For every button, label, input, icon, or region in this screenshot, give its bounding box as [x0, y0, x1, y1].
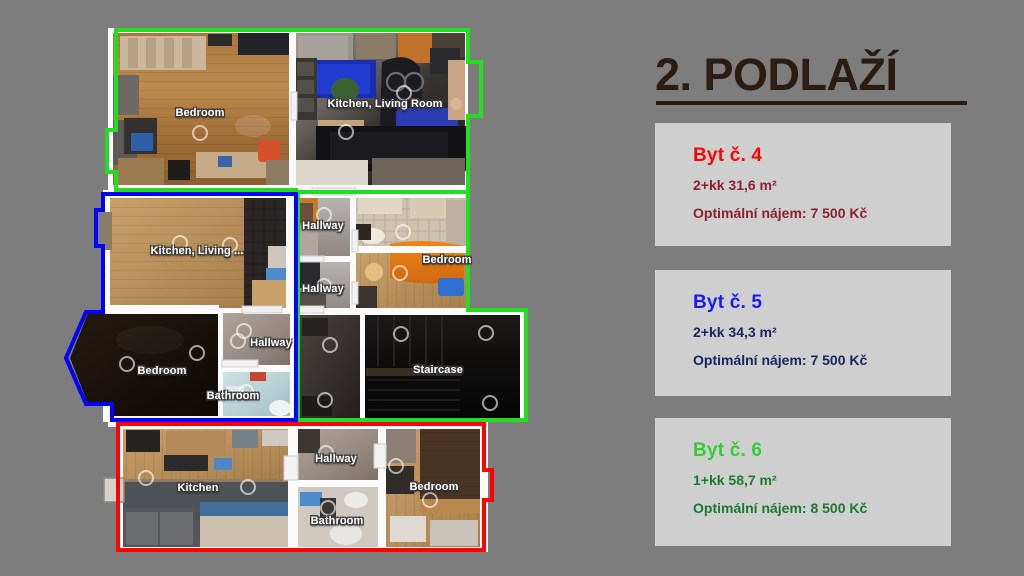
room-photo-kitchen-living-blue	[103, 198, 310, 308]
unit-card-title: Byt č. 5	[693, 292, 762, 314]
room-photo-bedroom-blue	[70, 313, 218, 416]
unit-card-byt-5[interactable]: Byt č. 5 2+kk 34,3 m² Optimální nájem: 7…	[655, 270, 951, 396]
unit-card-rent: Optimální nájem: 7 500 Kč	[693, 352, 867, 368]
room-photo-kitchen-living-top-right	[295, 33, 466, 185]
unit-card-rent: Optimální nájem: 8 500 Kč	[693, 500, 867, 516]
unit-card-rent: Optimální nájem: 7 500 Kč	[693, 205, 867, 221]
unit-card-layout: 2+kk 34,3 m²	[693, 324, 777, 340]
unit-card-layout: 1+kk 58,7 m²	[693, 472, 777, 488]
page-title: 2. PODLAŽÍ	[655, 52, 898, 97]
floorplan[interactable]: Bedroom Kitchen, Living Room Hallway Bed…	[0, 0, 560, 576]
floorplan-svg	[0, 0, 560, 576]
room-photo-hallway-bathroom-red	[298, 429, 378, 547]
room-photo-dark-hall-green	[300, 314, 360, 418]
unit-card-title: Byt č. 4	[693, 145, 762, 167]
room-photo-clutter-green	[355, 198, 467, 248]
slide-root: Bedroom Kitchen, Living Room Hallway Bed…	[0, 0, 1024, 576]
unit-card-byt-6[interactable]: Byt č. 6 1+kk 58,7 m² Optimální nájem: 8…	[655, 418, 951, 546]
room-photo-bedroom-red	[384, 429, 480, 547]
info-panel: 2. PODLAŽÍ Byt č. 4 2+kk 31,6 m² Optimál…	[560, 0, 1024, 576]
title-underline	[656, 101, 967, 105]
unit-card-byt-4[interactable]: Byt č. 4 2+kk 31,6 m² Optimální nájem: 7…	[655, 123, 951, 246]
room-photo-hallways-green	[296, 198, 350, 312]
unit-card-title: Byt č. 6	[693, 440, 762, 462]
room-photo-kitchen-red	[104, 429, 288, 547]
room-photo-bedroom-top-left	[113, 33, 289, 185]
unit-card-layout: 2+kk 31,6 m²	[693, 177, 777, 193]
